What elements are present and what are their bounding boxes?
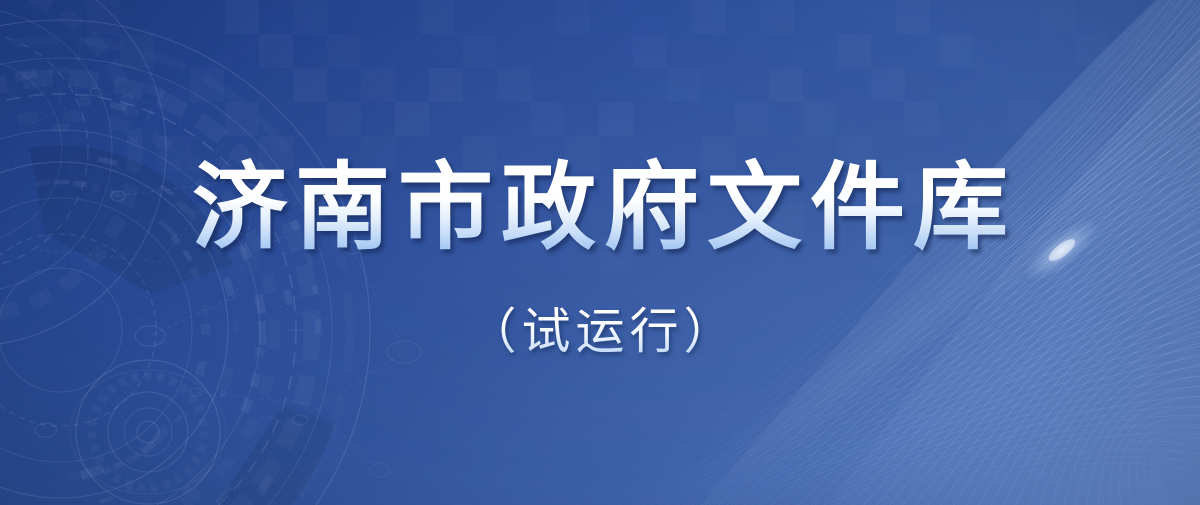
- page-title: 济南市政府文件库: [184, 142, 1016, 257]
- page-subtitle: （试运行）: [462, 292, 737, 363]
- banner-text-block: 济南市政府文件库 （试运行）: [0, 0, 1200, 505]
- page-banner: 济南市政府文件库 （试运行）: [0, 0, 1200, 505]
